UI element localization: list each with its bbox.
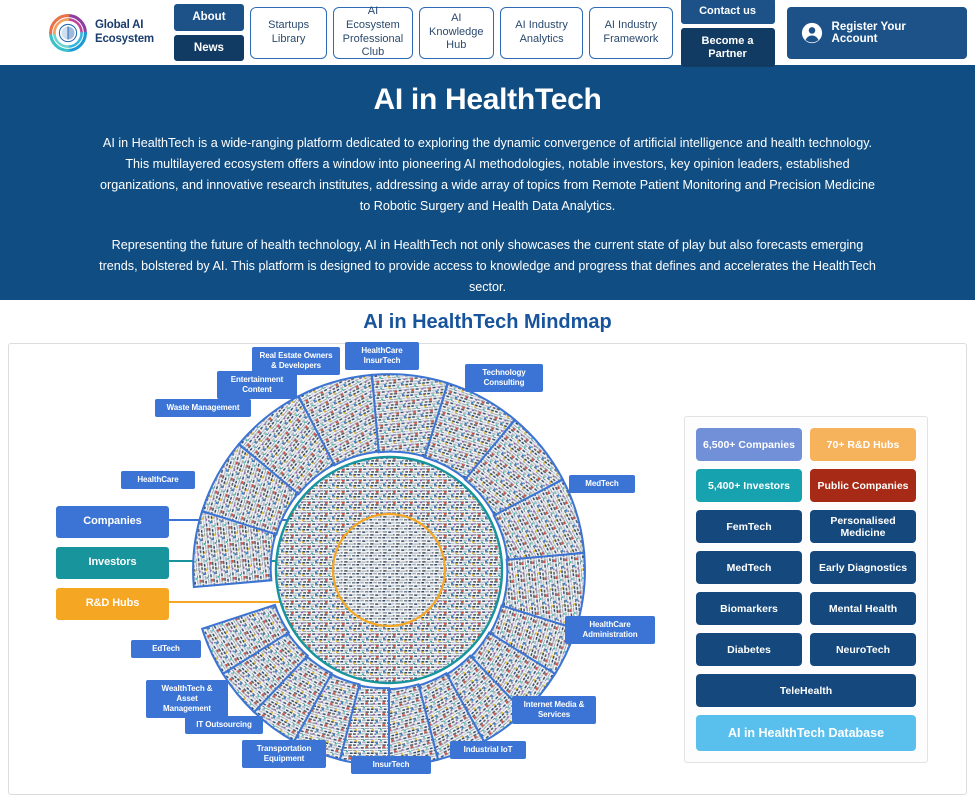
site-header: Global AI Ecosystem About News Startups … — [0, 0, 975, 65]
sector-label-technology-consulting[interactable]: Technology Consulting — [465, 364, 543, 392]
legend-item-mental-health[interactable]: Mental Health — [810, 592, 916, 625]
ring-legend-investors[interactable]: Investors — [56, 547, 169, 579]
hero-paragraph-1: AI in HealthTech is a wide-ranging platf… — [97, 133, 878, 218]
nav-primary-stack: About News — [174, 4, 244, 61]
logo-line-1: Global AI — [95, 19, 143, 31]
legend-item-investors-count[interactable]: 5,400+ Investors — [696, 469, 802, 502]
sector-label-healthcare[interactable]: HealthCare — [121, 471, 195, 489]
hero-banner: AI in HealthTech AI in HealthTech is a w… — [0, 65, 975, 300]
legend-item-companies-count[interactable]: 6,500+ Companies — [696, 428, 802, 461]
sector-label-entertainment-content[interactable]: Entertainment Content — [217, 371, 297, 399]
legend-item-ai-healthtech-database[interactable]: AI in HealthTech Database — [696, 715, 916, 751]
legend-item-medtech[interactable]: MedTech — [696, 551, 802, 584]
global-ai-ecosystem-logo-icon — [48, 13, 88, 53]
hero-paragraph-2: Representing the future of health techno… — [97, 235, 878, 298]
logo[interactable]: Global AI Ecosystem — [48, 13, 154, 53]
nav-news-button[interactable]: News — [174, 35, 244, 62]
legend-item-personalised-medicine[interactable]: Personalised Medicine — [810, 510, 916, 543]
nav-about-button[interactable]: About — [174, 4, 244, 31]
register-account-label: Register Your Account — [832, 21, 953, 45]
sector-label-medtech[interactable]: MedTech — [569, 475, 635, 493]
legend-item-biomarkers[interactable]: Biomarkers — [696, 592, 802, 625]
user-avatar-icon — [801, 22, 823, 44]
become-a-partner-button[interactable]: Become a Partner — [681, 28, 775, 66]
nav-ai-industry-framework[interactable]: AI Industry Framework — [589, 7, 672, 59]
sector-label-healthcare-insurtech[interactable]: HealthCare InsurTech — [345, 342, 419, 370]
legend-item-public-companies[interactable]: Public Companies — [810, 469, 916, 502]
legend-item-diabetes[interactable]: Diabetes — [696, 633, 802, 666]
nav-contact-stack: Contact us Become a Partner — [681, 0, 775, 67]
ring-legend-rd-hubs[interactable]: R&D Hubs — [56, 588, 169, 620]
nav-ai-ecosystem-professional-club[interactable]: AI Ecosystem Professional Club — [333, 7, 412, 59]
mindmap-panel: Companies Investors R&D Hubs Waste Manag… — [8, 343, 967, 795]
sector-label-wealthtech-asset-management[interactable]: WealthTech & Asset Management — [146, 680, 228, 718]
legend-item-neurotech[interactable]: NeuroTech — [810, 633, 916, 666]
sector-label-insurtech[interactable]: InsurTech — [351, 756, 431, 774]
nav-ai-knowledge-hub[interactable]: AI Knowledge Hub — [419, 7, 494, 59]
category-legend-panel: 6,500+ Companies 70+ R&D Hubs 5,400+ Inv… — [684, 416, 928, 763]
register-account-button[interactable]: Register Your Account — [787, 7, 967, 59]
sector-label-industrial-iot[interactable]: Industrial IoT — [450, 741, 526, 759]
sector-label-internet-media-services[interactable]: Internet Media & Services — [512, 696, 596, 724]
sector-label-healthcare-administration[interactable]: HealthCare Administration — [565, 616, 655, 644]
ring-legend-companies[interactable]: Companies — [56, 506, 169, 538]
sector-label-waste-management[interactable]: Waste Management — [155, 399, 251, 417]
nav-startups-library[interactable]: Startups Library — [250, 7, 327, 59]
logo-text: Global AI Ecosystem — [95, 19, 154, 45]
mindmap-title: AI in HealthTech Mindmap — [0, 300, 975, 343]
hero-title: AI in HealthTech — [97, 83, 878, 117]
sector-label-real-estate-owners-developers[interactable]: Real Estate Owners & Developers — [252, 347, 340, 375]
legend-item-femtech[interactable]: FemTech — [696, 510, 802, 543]
contact-us-button[interactable]: Contact us — [681, 0, 775, 24]
sector-label-it-outsourcing[interactable]: IT Outsourcing — [185, 716, 263, 734]
nav-ai-industry-analytics[interactable]: AI Industry Analytics — [500, 7, 583, 59]
sector-label-edtech[interactable]: EdTech — [131, 640, 201, 658]
legend-item-rd-hubs-count[interactable]: 70+ R&D Hubs — [810, 428, 916, 461]
sector-label-transportation-equipment[interactable]: Transportation Equipment — [242, 740, 326, 768]
logo-line-2: Ecosystem — [95, 33, 154, 45]
legend-item-telehealth[interactable]: TeleHealth — [696, 674, 916, 707]
legend-item-early-diagnostics[interactable]: Early Diagnostics — [810, 551, 916, 584]
